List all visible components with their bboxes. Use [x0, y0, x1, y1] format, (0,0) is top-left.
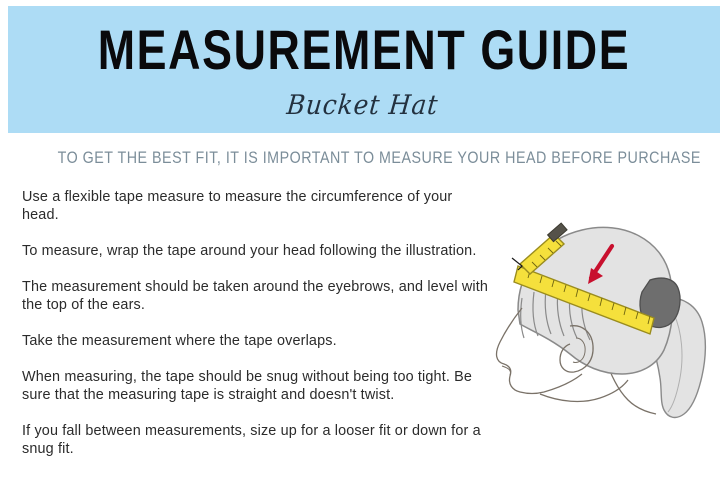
header-band: MEASUREMENT GUIDE Bucket Hat [8, 6, 720, 133]
subheading: TO GET THE BEST FIT, IT IS IMPORTANT TO … [58, 147, 663, 169]
jaw-line [540, 380, 628, 401]
head-measurement-illustration [478, 214, 720, 446]
instruction-paragraph: To measure, wrap the tape around your he… [22, 242, 492, 260]
page-subtitle: Bucket Hat [33, 90, 691, 122]
measurement-guide-page: MEASUREMENT GUIDE Bucket Hat TO GET THE … [0, 0, 720, 479]
page-title: MEASUREMENT GUIDE [79, 20, 649, 80]
instructions-list: Use a flexible tape measure to measure t… [22, 188, 492, 458]
instruction-paragraph: The measurement should be taken around t… [22, 278, 492, 314]
instruction-paragraph: Take the measurement where the tape over… [22, 332, 492, 350]
instruction-paragraph: When measuring, the tape should be snug … [22, 368, 492, 404]
instruction-paragraph: Use a flexible tape measure to measure t… [22, 188, 492, 224]
instruction-paragraph: If you fall between measurements, size u… [22, 422, 492, 458]
